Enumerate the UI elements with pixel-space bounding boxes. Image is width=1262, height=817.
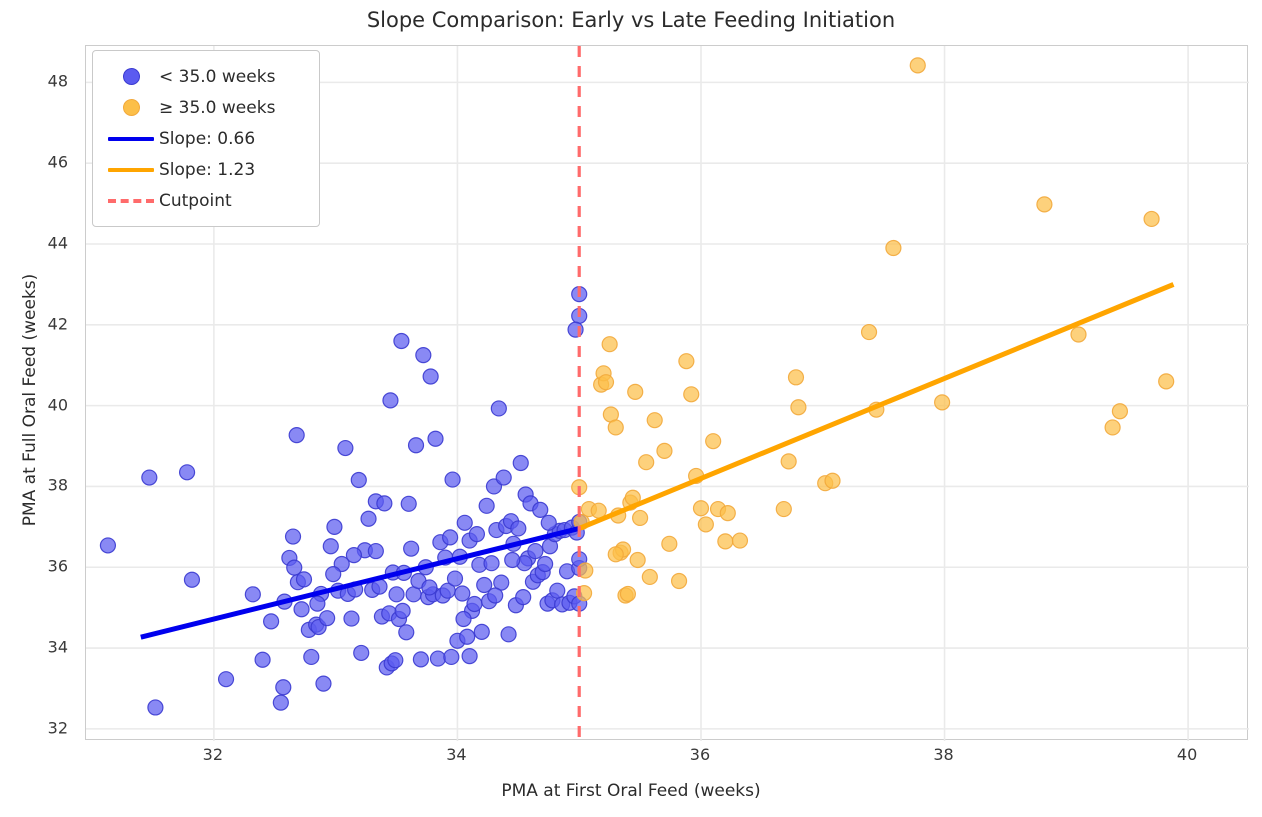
y-tick-label: 34 [0, 638, 68, 657]
x-tick-label: 36 [690, 745, 710, 764]
chart-legend[interactable]: < 35.0 weeks ≥ 35.0 weeks Slope: 0.66 Sl… [92, 50, 320, 227]
legend-item[interactable]: Cutpoint [103, 185, 307, 216]
legend-line-icon [103, 137, 159, 141]
x-tick-label: 38 [933, 745, 953, 764]
legend-label: < 35.0 weeks [159, 67, 275, 87]
legend-item[interactable]: < 35.0 weeks [103, 61, 307, 92]
y-tick-label: 32 [0, 718, 68, 737]
legend-dashed-icon [103, 199, 159, 203]
x-axis-label: PMA at First Oral Feed (weeks) [0, 781, 1262, 801]
legend-label: Slope: 0.66 [159, 129, 255, 149]
legend-label: Cutpoint [159, 191, 232, 211]
scatter-points-late [572, 58, 1174, 603]
x-tick-label: 34 [446, 745, 466, 764]
scatter-points-early [100, 287, 586, 715]
x-tick-label: 32 [203, 745, 223, 764]
x-tick-label: 40 [1177, 745, 1197, 764]
legend-item[interactable]: Slope: 1.23 [103, 154, 307, 185]
chart-title: Slope Comparison: Early vs Late Feeding … [0, 8, 1262, 32]
legend-line-icon [103, 168, 159, 172]
legend-item[interactable]: ≥ 35.0 weeks [103, 92, 307, 123]
legend-marker-icon [103, 99, 159, 116]
legend-label: ≥ 35.0 weeks [159, 98, 275, 118]
y-tick-label: 46 [0, 153, 68, 172]
legend-label: Slope: 1.23 [159, 160, 255, 180]
y-tick-label: 48 [0, 72, 68, 91]
legend-item[interactable]: Slope: 0.66 [103, 123, 307, 154]
chart-figure: Slope Comparison: Early vs Late Feeding … [0, 0, 1262, 817]
fit-line-late [579, 284, 1173, 528]
y-axis-label: PMA at Full Oral Feed (weeks) [20, 230, 40, 570]
legend-marker-icon [103, 68, 159, 85]
